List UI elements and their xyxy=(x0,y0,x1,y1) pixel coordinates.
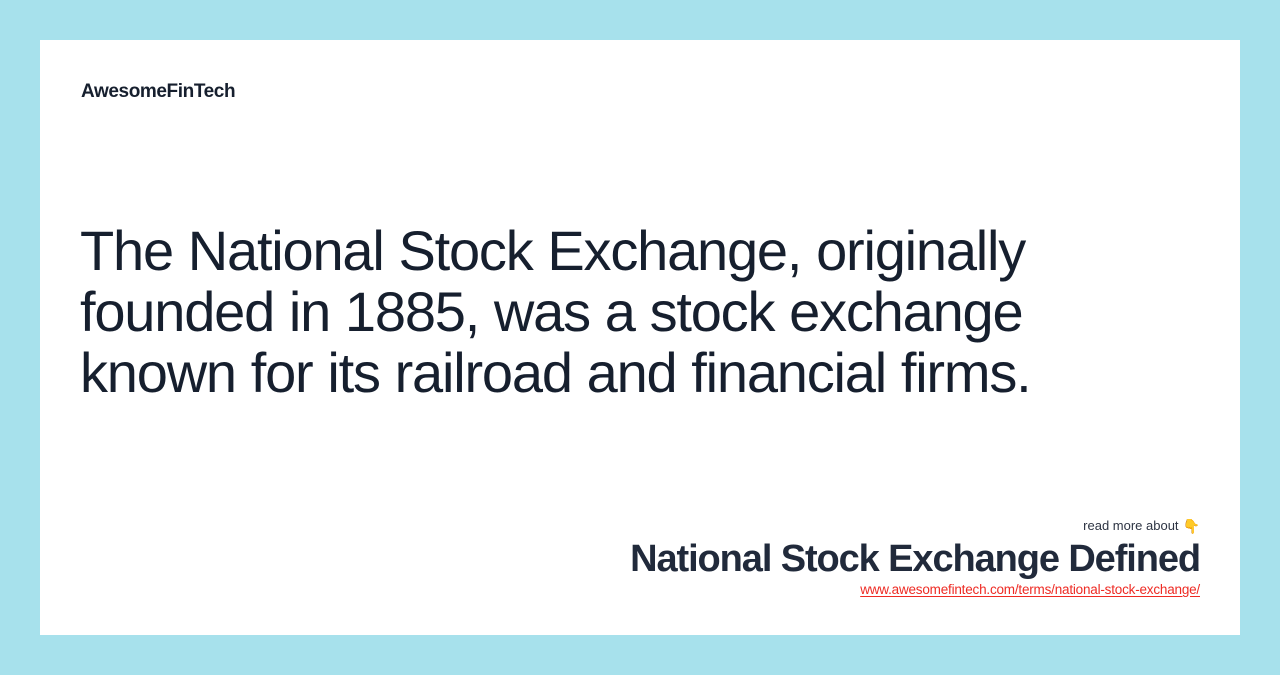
share-card: AwesomeFinTech The National Stock Exchan… xyxy=(40,40,1240,635)
term-title: National Stock Exchange Defined xyxy=(630,537,1200,581)
read-more-row: read more about👇 xyxy=(630,519,1200,534)
brand-logo[interactable]: AwesomeFinTech xyxy=(81,82,235,101)
read-more-label: read more about xyxy=(1083,518,1178,533)
term-url-link[interactable]: www.awesomefintech.com/terms/national-st… xyxy=(860,582,1200,597)
quote-text: The National Stock Exchange, originally … xyxy=(80,220,1080,403)
point-down-emoji-icon: 👇 xyxy=(1183,519,1200,534)
footer-block: read more about👇 National Stock Exchange… xyxy=(630,519,1200,599)
quote-block: The National Stock Exchange, originally … xyxy=(80,220,1080,403)
